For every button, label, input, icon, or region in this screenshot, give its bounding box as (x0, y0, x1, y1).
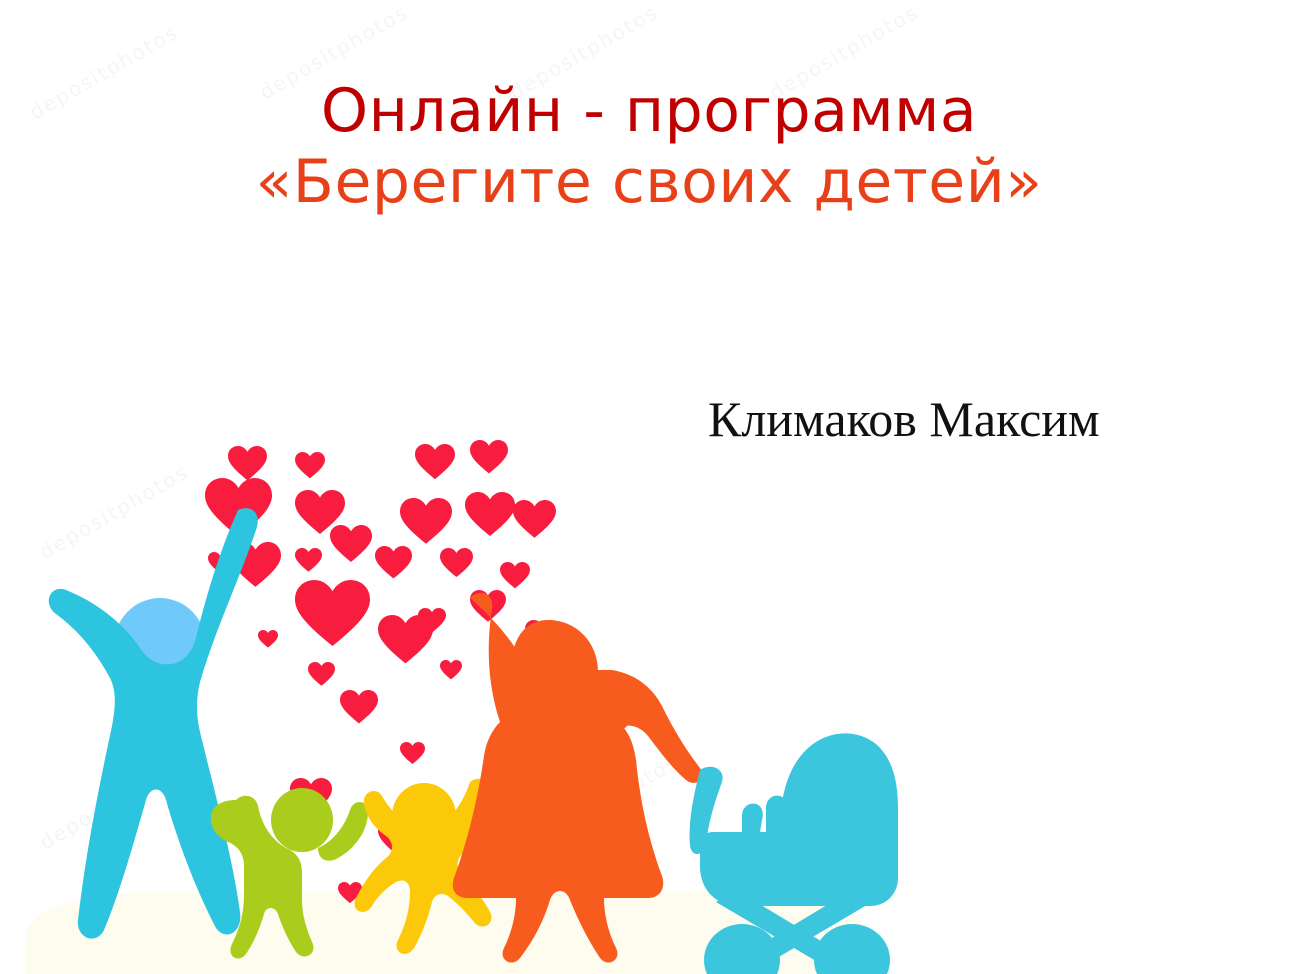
stroller-body (700, 733, 898, 906)
baby-head (742, 804, 763, 832)
baby-stroller (690, 733, 898, 974)
slide-title: Онлайн - программа «Берегите своих детей… (0, 78, 1298, 216)
presentation-slide: depositphotos depositphotos depositphoto… (0, 0, 1298, 974)
title-line-primary: Онлайн - программа (0, 78, 1298, 145)
child-green-head (271, 788, 333, 852)
stroller-canopy-notch (766, 796, 787, 832)
figure-father (49, 508, 258, 938)
title-line-secondary: «Берегите своих детей» (0, 149, 1298, 216)
family-illustration-svg (0, 330, 900, 974)
family-illustration (0, 330, 900, 974)
father-body (49, 508, 258, 938)
